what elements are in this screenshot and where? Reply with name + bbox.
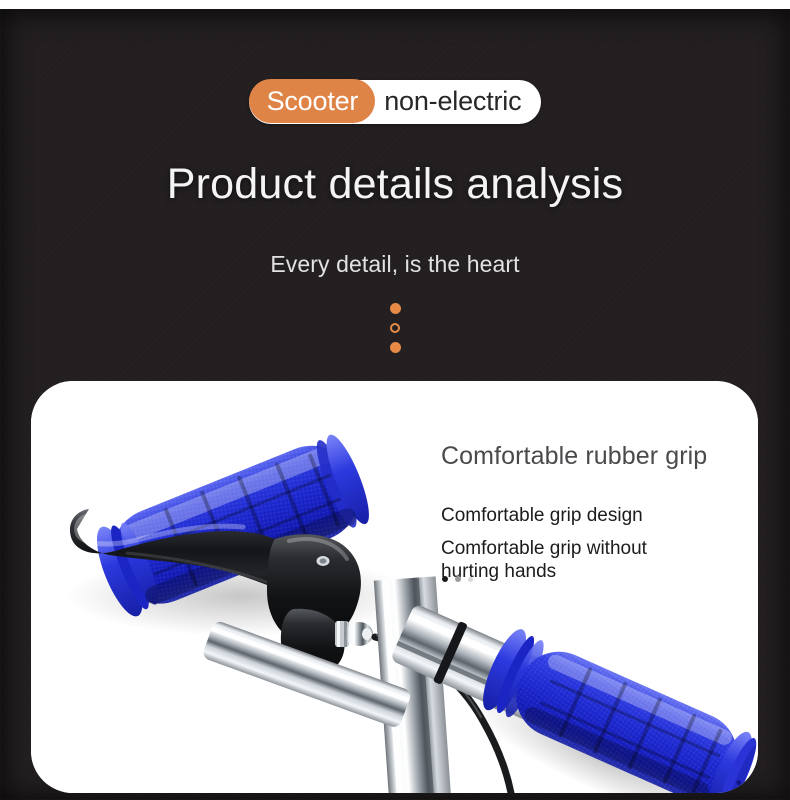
top-white-strip bbox=[0, 0, 790, 9]
page-subtitle: Every detail, is the heart bbox=[0, 251, 790, 278]
ornament-dot-hollow-middle bbox=[390, 323, 400, 333]
badge-text-label: non-electric bbox=[375, 88, 521, 115]
product-detail-page: Scooter non-electric Product details ana… bbox=[0, 0, 790, 800]
card-pagination-dots[interactable] bbox=[442, 576, 473, 582]
ornament-dot-filled-top bbox=[390, 303, 401, 314]
category-badge: Scooter non-electric bbox=[249, 80, 542, 124]
card-feature-line-1: Comfortable grip design bbox=[441, 505, 643, 527]
pagination-dot-1[interactable] bbox=[442, 576, 448, 582]
pagination-dot-2[interactable] bbox=[455, 576, 461, 582]
page-title: Product details analysis bbox=[0, 161, 790, 208]
card-feature-line-2: Comfortable grip without hurting hands bbox=[441, 537, 671, 583]
badge-tag-label: Scooter bbox=[249, 79, 376, 123]
cable-adjuster bbox=[335, 621, 373, 647]
card-heading: Comfortable rubber grip bbox=[441, 442, 707, 471]
ornament-dot-filled-bottom bbox=[390, 342, 401, 353]
pagination-dot-3[interactable] bbox=[468, 577, 473, 582]
dot-ornament bbox=[0, 303, 790, 353]
badge-container: Scooter non-electric bbox=[0, 80, 790, 124]
